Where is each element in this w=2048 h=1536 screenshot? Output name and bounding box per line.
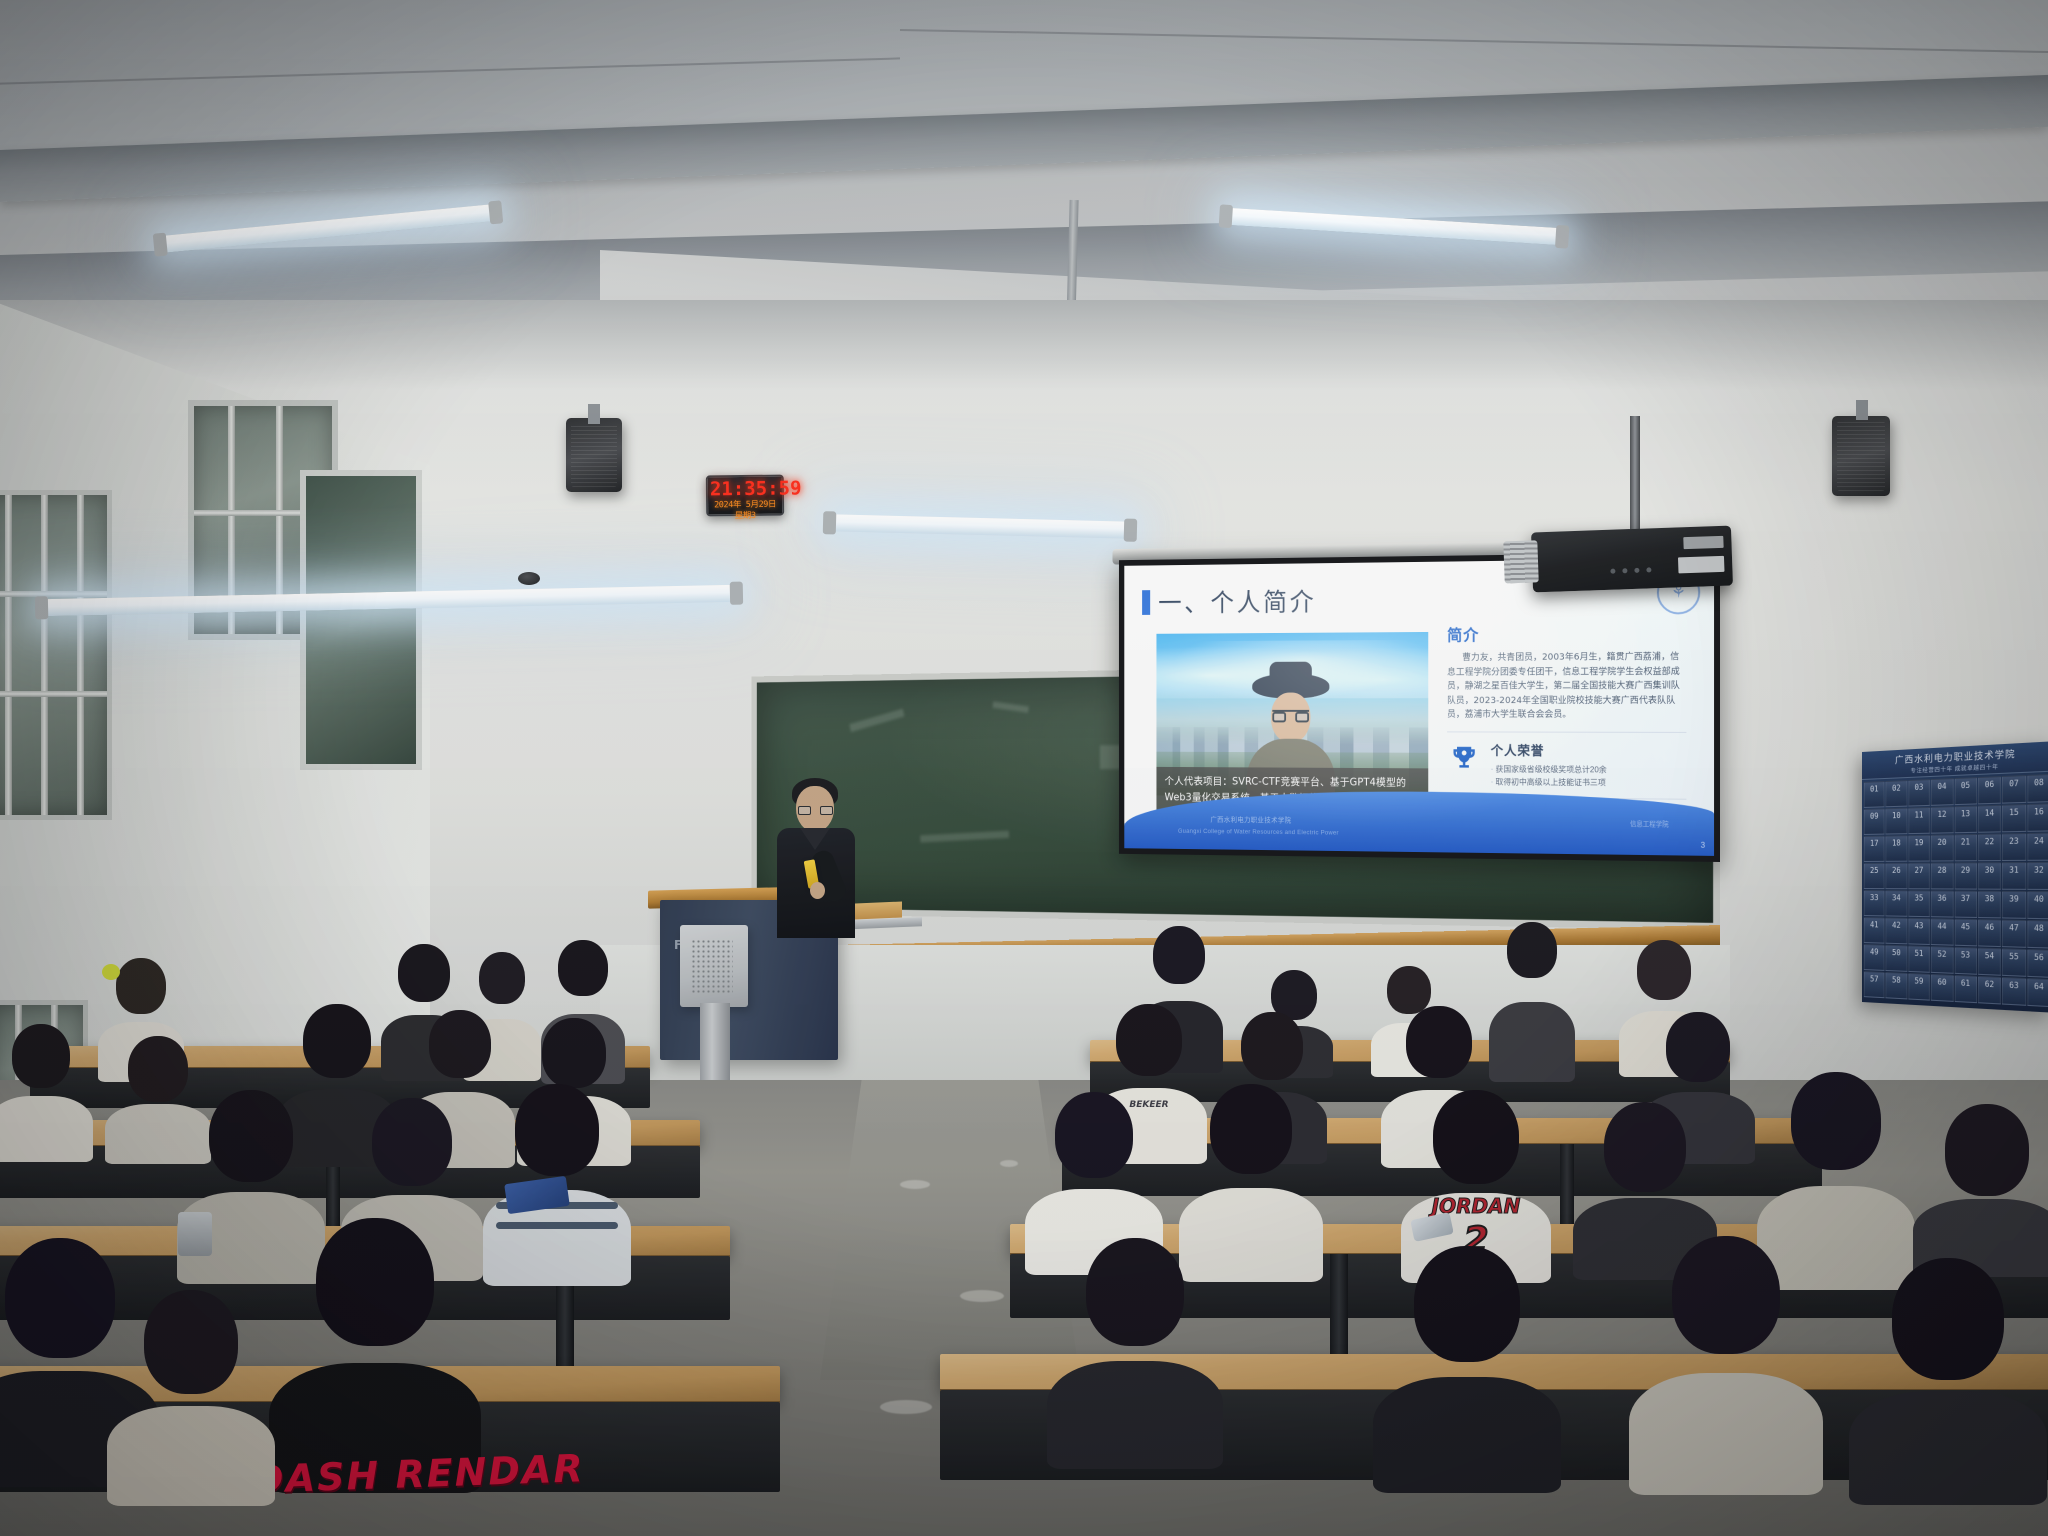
pocket-cell[interactable]: 55: [2002, 948, 2026, 977]
digital-clock: 21:35:59 2024年 5月29日 星期3: [706, 475, 784, 517]
pocket-cell[interactable]: 35: [1908, 890, 1930, 917]
pocket-cell[interactable]: 19: [1908, 835, 1930, 862]
pocket-cell[interactable]: 34: [1886, 890, 1907, 917]
pocket-cell[interactable]: 03: [1908, 779, 1930, 806]
honors-list: 获国家级省级校级奖项总计20余 取得初中高级以上技能证书三项: [1491, 762, 1687, 789]
pocket-cell[interactable]: 41: [1864, 917, 1885, 944]
pocket-cell[interactable]: 04: [1931, 778, 1953, 806]
pocket-cell[interactable]: 20: [1931, 834, 1953, 861]
clock-date: 2024年 5月29日 星期3: [710, 500, 780, 523]
phone-storage-board: 广西水利电力职业技术学院 专注经营四十年 成就卓越四十年 01020304050…: [1862, 741, 2048, 1012]
wall-speaker-left: [566, 418, 622, 492]
window-green-panel: [300, 470, 422, 770]
hair-clip: [102, 964, 120, 980]
presenter: [770, 772, 866, 952]
pocket-cell[interactable]: 32: [2027, 862, 2048, 890]
pocket-cell[interactable]: 31: [2002, 862, 2026, 890]
student: [1488, 922, 1576, 1060]
glasses-icon: [1272, 710, 1309, 721]
projection-screen: 一、个人简介 ⚘ 个人代表项目：SVRC-CTF竞赛平台、基于GPT4模型的We…: [1119, 552, 1720, 862]
pocket-cell[interactable]: 64: [2027, 978, 2048, 1007]
pocket-cell[interactable]: 17: [1864, 836, 1885, 862]
pocket-cell[interactable]: 08: [2027, 774, 2048, 803]
slide-page-number: 3: [1701, 841, 1705, 850]
wall-shadow: [0, 300, 2048, 390]
glasses-icon: [798, 806, 833, 815]
pocket-cell[interactable]: 22: [1978, 833, 2001, 861]
pocket-cell[interactable]: 09: [1864, 808, 1885, 835]
podium-control-panel[interactable]: [680, 925, 748, 1007]
student: [1628, 1236, 1824, 1472]
pocket-cell[interactable]: 06: [1978, 776, 2001, 804]
student: [106, 1290, 276, 1490]
honors-heading: 个人荣誉: [1491, 740, 1687, 760]
pocket-cell[interactable]: 33: [1864, 890, 1885, 916]
pocket-cell[interactable]: 25: [1864, 863, 1885, 889]
student: [1912, 1104, 2048, 1268]
slide: 一、个人简介 ⚘ 个人代表项目：SVRC-CTF竞赛平台、基于GPT4模型的We…: [1124, 558, 1714, 856]
student: [1372, 1246, 1562, 1472]
student: [482, 1084, 632, 1266]
water-bottle: [178, 1212, 212, 1256]
projector-vent: [1503, 540, 1538, 583]
pocket-cell[interactable]: 27: [1908, 863, 1930, 890]
projector-mount-pole: [1630, 416, 1640, 534]
pocket-cell[interactable]: 11: [1908, 807, 1930, 834]
pocket-cell[interactable]: 01: [1864, 781, 1885, 808]
pocket-cell[interactable]: 38: [1978, 891, 2001, 919]
classroom-scene: 21:35:59 2024年 5月29日 星期3 一、个人简介 ⚘ 个人代表项目…: [0, 0, 2048, 1536]
pocket-cell[interactable]: 36: [1931, 890, 1953, 917]
pocket-cell[interactable]: 51: [1908, 945, 1930, 972]
pocket-cell[interactable]: 16: [2027, 803, 2048, 832]
honors-section: 个人荣誉 获国家级省级校级奖项总计20余 取得初中高级以上技能证书三项: [1447, 740, 1686, 790]
slide-accent-bar: [1142, 590, 1150, 615]
pocket-cell[interactable]: 62: [1978, 976, 2001, 1005]
pocket-cell[interactable]: 52: [1931, 946, 1953, 974]
pocket-cell[interactable]: 37: [1954, 891, 1977, 918]
student: [1046, 1238, 1224, 1450]
pocket-cell[interactable]: 60: [1931, 974, 1953, 1002]
pocket-cell[interactable]: 14: [1978, 805, 2001, 833]
pocket-cell[interactable]: 54: [1978, 947, 2001, 975]
projector-indicator-lights: [1610, 567, 1651, 573]
pocket-cell[interactable]: 46: [1978, 919, 2001, 947]
pocket-cell[interactable]: 58: [1886, 972, 1907, 999]
pocket-cell[interactable]: 49: [1864, 944, 1885, 971]
speaker-bracket: [588, 404, 600, 424]
pocket-cell[interactable]: 45: [1954, 919, 1977, 947]
pocket-cell[interactable]: 15: [2002, 804, 2026, 832]
pocket-cell[interactable]: 18: [1886, 835, 1907, 862]
pocket-cell[interactable]: 23: [2002, 833, 2026, 861]
pocket-cell[interactable]: 47: [2002, 920, 2026, 948]
pocket-cell[interactable]: 24: [2027, 833, 2048, 861]
student-hoodie: [268, 1218, 482, 1468]
student-jersey: JORDAN 2: [1400, 1090, 1552, 1268]
pocket-cell[interactable]: 63: [2002, 977, 2026, 1006]
pocket-cell[interactable]: 59: [1908, 973, 1930, 1001]
slide-footer-right: 信息工程学院: [1630, 820, 1669, 829]
student: [1024, 1092, 1164, 1260]
pocket-cell[interactable]: 56: [2027, 949, 2048, 978]
pocket-cell[interactable]: 05: [1954, 777, 1977, 805]
pocket-cell[interactable]: 40: [2027, 891, 2048, 919]
pocket-grid: 0102030405060708091011121314151617181920…: [1862, 772, 2048, 1010]
window-left: [0, 490, 112, 820]
pocket-cell[interactable]: 42: [1886, 917, 1907, 944]
pocket-cell[interactable]: 48: [2027, 920, 2048, 949]
pocket-cell[interactable]: 26: [1886, 863, 1907, 890]
projector-label: [1683, 536, 1723, 549]
honors-item: 取得初中高级以上技能证书三项: [1491, 775, 1687, 789]
trophy-icon: [1447, 740, 1481, 772]
projector-label: [1678, 556, 1725, 574]
slide-photo: 个人代表项目：SVRC-CTF竞赛平台、基于GPT4模型的Web3量化交易系统、…: [1156, 632, 1428, 815]
pocket-cell[interactable]: 13: [1954, 805, 1977, 833]
pocket-cell[interactable]: 57: [1864, 971, 1885, 998]
clock-time: 21:35:59: [710, 480, 780, 500]
wall-speaker-right: [1832, 416, 1890, 496]
ceiling-sensor: [518, 572, 540, 585]
ceiling-projector: [1531, 526, 1733, 593]
honors-item: 获国家级省级校级奖项总计20余: [1491, 762, 1687, 776]
pocket-cell[interactable]: 61: [1954, 975, 1977, 1003]
presenter-hand: [810, 882, 825, 899]
student: [1848, 1258, 2048, 1488]
pocket-cell[interactable]: 21: [1954, 834, 1977, 861]
intro-heading: 简介: [1447, 620, 1686, 645]
pocket-cell[interactable]: 10: [1886, 808, 1907, 835]
slide-title: 一、个人简介: [1158, 583, 1316, 620]
student: [0, 1024, 94, 1148]
pocket-cell[interactable]: 28: [1931, 862, 1953, 889]
intro-body: 曹力友，共青团员，2003年6月生，籍贯广西荔浦，信息工程学院分团委专任团干，信…: [1447, 650, 1686, 722]
pocket-cell[interactable]: 07: [2002, 775, 2026, 804]
student: [1178, 1084, 1324, 1264]
slide-footer-cn: 广西水利电力职业技术学院: [1210, 815, 1291, 825]
divider: [1447, 731, 1686, 733]
speaker-bracket: [1856, 400, 1868, 420]
pocket-cell[interactable]: 29: [1954, 862, 1977, 889]
pocket-cell[interactable]: 02: [1886, 780, 1907, 807]
shirt-stripe: [496, 1222, 618, 1229]
pocket-cell[interactable]: 12: [1931, 806, 1953, 833]
pocket-cell[interactable]: 43: [1908, 918, 1930, 945]
window-bars: [0, 495, 107, 815]
pocket-cell[interactable]: 50: [1886, 945, 1907, 972]
pocket-cell[interactable]: 44: [1931, 918, 1953, 945]
pocket-cell[interactable]: 30: [1978, 862, 2001, 890]
pocket-cell[interactable]: 39: [2002, 891, 2026, 919]
pocket-cell[interactable]: 53: [1954, 947, 1977, 975]
